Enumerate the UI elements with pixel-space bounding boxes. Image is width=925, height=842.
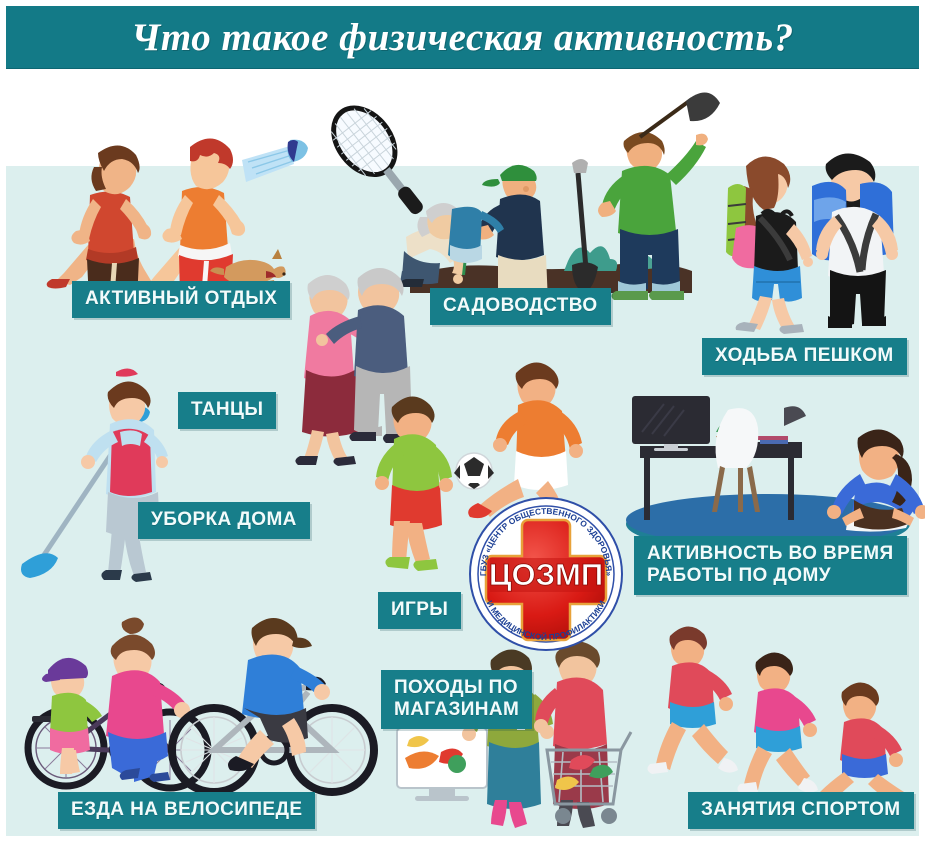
home-office-yoga-illustration xyxy=(620,388,920,548)
label-active-recreation: АКТИВНЫЙ ОТДЫХ xyxy=(72,281,290,318)
gardening-group-illustration xyxy=(400,105,700,300)
hikers-pair-illustration xyxy=(726,120,921,330)
label-shopping: ПОХОДЫ ПО МАГАЗИНАМ xyxy=(381,670,532,729)
label-walking: ХОДЬБА ПЕШКОМ xyxy=(702,338,907,375)
stretching-women-illustration xyxy=(650,608,915,808)
logo-acronym-text: ЦОЗМП xyxy=(489,557,603,592)
infographic-poster: Что такое физическая активность? xyxy=(0,0,925,842)
label-cycling: ЕЗДА НА ВЕЛОСИПЕДЕ xyxy=(58,792,315,829)
badminton-set-illustration xyxy=(228,96,428,226)
czomp-logo: ЦОЗМП ГБУЗ «ЦЕНТР ОБЩЕСТВЕННОГО ЗДОРОВЬЯ… xyxy=(468,496,624,652)
label-housework: АКТИВНОСТЬ ВО ВРЕМЯ РАБОТЫ ПО ДОМУ xyxy=(634,536,907,595)
cyclists-family-illustration xyxy=(18,600,363,795)
label-games: ИГРЫ xyxy=(378,592,461,629)
label-dancing: ТАНЦЫ xyxy=(178,392,276,429)
label-house-cleaning: УБОРКА ДОМА xyxy=(138,502,310,539)
poster-header: Что такое физическая активность? xyxy=(6,6,919,68)
label-gardening: САДОВОДСТВО xyxy=(430,288,611,325)
woman-mopping-illustration xyxy=(20,352,180,602)
page-title: Что такое физическая активность? xyxy=(131,15,793,60)
label-sports: ЗАНЯТИЯ СПОРТОМ xyxy=(688,792,914,829)
